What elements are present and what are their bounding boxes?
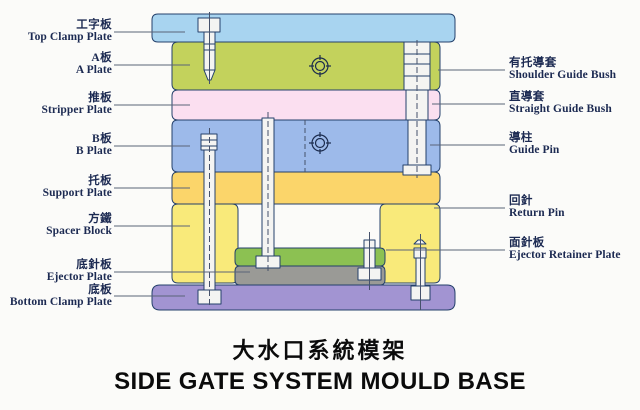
label-guide-pin: 導柱 Guide Pin — [509, 133, 559, 156]
label-ejector-plate: 底針板 Ejector Plate — [47, 260, 112, 283]
plate-bottom-clamp — [152, 285, 455, 310]
label-straight-guide-bush: 直導套 Straight Guide Bush — [509, 92, 612, 115]
diagram-title: 大水口系統模架 SIDE GATE SYSTEM MOULD BASE — [0, 333, 640, 396]
label-en: Straight Guide Bush — [509, 104, 612, 116]
plate-stripper — [172, 90, 440, 120]
label-en: B Plate — [76, 146, 112, 158]
label-cn: 面針板 — [509, 238, 621, 250]
label-ejector-retainer-plate: 面針板 Ejector Retainer Plate — [509, 238, 621, 261]
label-en: Return Pin — [509, 208, 565, 220]
plate-top-clamp — [152, 14, 455, 42]
label-cn: 導柱 — [509, 133, 559, 145]
label-cn: 方鐵 — [46, 214, 112, 226]
label-top-clamp-plate: 工字板 Top Clamp Plate — [28, 20, 112, 43]
label-a-plate: A板 A Plate — [76, 53, 112, 76]
title-en: SIDE GATE SYSTEM MOULD BASE — [0, 368, 640, 396]
label-b-plate: B板 B Plate — [76, 134, 112, 157]
label-return-pin: 回針 Return Pin — [509, 196, 565, 219]
label-cn: 回針 — [509, 196, 565, 208]
label-stripper-plate: 推板 Stripper Plate — [42, 93, 113, 116]
label-en: A Plate — [76, 65, 112, 77]
label-shoulder-guide-bush: 有托導套 Shoulder Guide Bush — [509, 58, 616, 81]
spacer-block-right — [380, 204, 440, 283]
label-cn: 推板 — [42, 93, 113, 105]
label-cn: B板 — [76, 134, 112, 146]
label-cn: 工字板 — [28, 20, 112, 32]
label-en: Spacer Block — [46, 226, 112, 238]
label-cn: 底板 — [10, 285, 112, 297]
label-en: Ejector Retainer Plate — [509, 250, 621, 262]
label-cn: A板 — [76, 53, 112, 65]
label-en: Ejector Plate — [47, 272, 112, 284]
label-support-plate: 托板 Support Plate — [43, 176, 112, 199]
label-en: Guide Pin — [509, 145, 559, 157]
label-cn: 托板 — [43, 176, 112, 188]
label-en: Stripper Plate — [42, 105, 113, 117]
label-cn: 底針板 — [47, 260, 112, 272]
diagram-canvas: 工字板 Top Clamp Plate A板 A Plate 推板 Stripp… — [0, 0, 640, 410]
label-cn: 直導套 — [509, 92, 612, 104]
label-en: Bottom Clamp Plate — [10, 297, 112, 309]
label-en: Top Clamp Plate — [28, 32, 112, 44]
label-en: Support Plate — [43, 188, 112, 200]
label-bottom-clamp-plate: 底板 Bottom Clamp Plate — [10, 285, 112, 308]
label-cn: 有托導套 — [509, 58, 616, 70]
label-en: Shoulder Guide Bush — [509, 70, 616, 82]
title-cn: 大水口系統模架 — [0, 333, 640, 365]
label-spacer-block: 方鐵 Spacer Block — [46, 214, 112, 237]
